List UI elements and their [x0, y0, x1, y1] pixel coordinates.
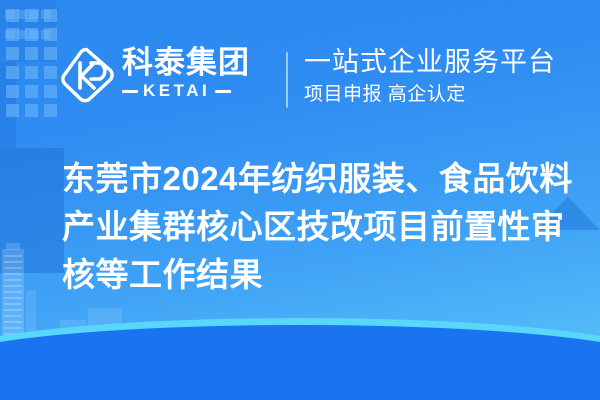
promo-banner: 科泰集团 KETAI 一站式企业服务平台 项目申报 高企认定 东莞市2024年纺… [0, 0, 600, 400]
wave-band-fill [0, 360, 600, 400]
building-window [4, 267, 22, 269]
building-window [4, 327, 22, 329]
tagline-sub: 项目申报 高企认定 [304, 82, 556, 107]
wave-arc-highlight [0, 318, 600, 400]
logo-company-name-en-row: KETAI [122, 82, 282, 100]
building-window [4, 315, 22, 317]
logo-company-name-cn: 科泰集团 [122, 46, 282, 80]
building-left-secondary [26, 290, 36, 354]
logo-dash-left [122, 90, 138, 93]
building-window [4, 339, 22, 341]
header-tagline: 一站式企业服务平台 项目申报 高企认定 [304, 46, 556, 107]
logo-wordmark: 科泰集团 KETAI [122, 46, 282, 100]
building-window [4, 303, 22, 305]
banner-title: 东莞市2024年纺织服装、食品饮料 产业集群核心区技改项目前置性审 核等工作结果 [62, 155, 574, 299]
title-line-3: 核等工作结果 [62, 251, 574, 299]
tower-left-cap [6, 243, 20, 250]
logo-company-name-en: KETAI [143, 82, 210, 100]
building-window [4, 333, 22, 335]
header-divider [286, 52, 288, 108]
building-block-c [124, 326, 144, 354]
building-window [4, 279, 22, 281]
title-line-2: 产业集群核心区技改项目前置性审 [62, 203, 574, 251]
building-window [4, 285, 22, 287]
building-window [4, 273, 22, 275]
building-left-tower [2, 249, 24, 354]
banner-header: 科泰集团 KETAI 一站式企业服务平台 项目申报 高企认定 [0, 0, 600, 120]
wave-band [0, 325, 600, 400]
building-block-b [88, 308, 122, 354]
building-window [4, 321, 22, 323]
logo-dash-right [215, 90, 231, 93]
tagline-main: 一站式企业服务平台 [304, 46, 556, 79]
building-window [4, 351, 22, 353]
ketai-diamond-kp-logo-icon [60, 46, 116, 104]
building-window [4, 291, 22, 293]
building-block-a [60, 320, 86, 354]
building-window [4, 261, 22, 263]
building-window [4, 255, 22, 257]
title-line-1: 东莞市2024年纺织服装、食品饮料 [62, 155, 574, 203]
building-right-tall [0, 148, 64, 273]
building-window [4, 345, 22, 347]
building-window [4, 297, 22, 299]
building-window [4, 309, 22, 311]
